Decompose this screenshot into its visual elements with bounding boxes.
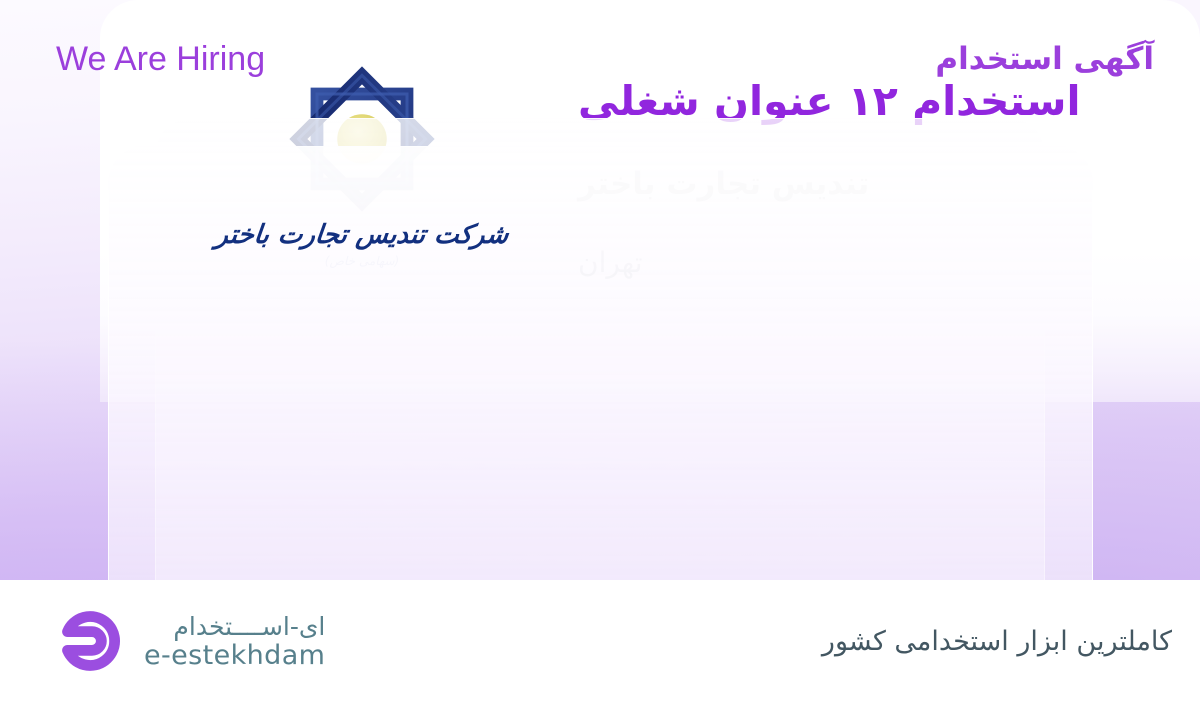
footer-bar: کاملترین ابزار استخدامی کشور ای-اســــتخ… — [0, 580, 1200, 705]
e-estekhdam-e-mark-icon — [56, 605, 128, 681]
hiring-badge-en: We Are Hiring — [56, 42, 265, 76]
hero-gradient-band: آگهی استخدام We Are Hiring استخدام ۱۲ عن… — [0, 0, 1200, 580]
brand-name-en: e-estekhdam — [144, 641, 325, 671]
hero-header-row: آگهی استخدام We Are Hiring — [0, 0, 1200, 118]
advertisement-canvas: آگهی استخدام We Are Hiring استخدام ۱۲ عن… — [0, 0, 1200, 705]
company-logo-caption-primary: شرکت تندیس تجارت باختر — [210, 220, 513, 250]
footer-tagline: کاملترین ابزار استخدامی کشور — [822, 622, 1172, 663]
card-stack-middle — [108, 146, 1093, 580]
brand-wordmark: ای-اســــتخدام e-estekhdam — [144, 613, 325, 671]
hiring-badge-fa: آگهی استخدام — [935, 44, 1154, 75]
brand-lockup[interactable]: ای-اســــتخدام e-estekhdam — [56, 605, 325, 681]
brand-name-fa: ای-اســــتخدام — [173, 613, 325, 641]
